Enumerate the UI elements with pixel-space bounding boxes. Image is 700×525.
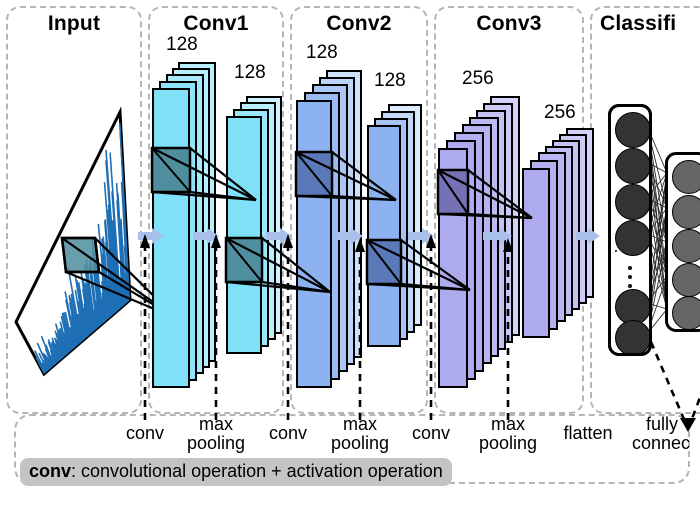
op-label-maxpool-3-line1: max [472, 415, 544, 434]
fc-node [672, 296, 700, 330]
flatten-node [615, 184, 651, 220]
flatten-node [615, 112, 651, 148]
cnn-architecture-diagram: Input Conv1 Conv2 Conv3 Classifi [0, 0, 700, 525]
fc-node [672, 229, 700, 263]
fc-node [672, 195, 700, 229]
conv1-b-patch [226, 238, 262, 282]
op-label-conv-2: conv [255, 424, 321, 443]
flatten-layer-column [608, 104, 652, 356]
op-label-conv-3: conv [398, 424, 464, 443]
op-label-maxpool-3-line2: pooling [472, 434, 544, 453]
flow-arrow-7 [576, 228, 600, 244]
op-label-fully-connected-line2: connec [632, 434, 700, 453]
flatten-node [615, 220, 651, 256]
flatten-node [615, 320, 651, 356]
fc-node [672, 263, 700, 297]
op-label-maxpool-1-line2: pooling [180, 434, 252, 453]
fully-connected-layer-column [665, 152, 700, 332]
legend-description: : convolutional operation + activation o… [71, 461, 443, 481]
op-label-fully-connected-line1: fully [646, 415, 700, 434]
conv2-a-patch [296, 152, 332, 196]
op-label-flatten: flatten [548, 424, 628, 443]
flatten-node [615, 250, 617, 252]
op-pointer-arrows [145, 240, 508, 420]
op-label-maxpool-2-line2: pooling [324, 434, 396, 453]
op-label-maxpool-2-line1: max [324, 415, 396, 434]
flow-arrow-1 [138, 228, 164, 244]
flatten-node [615, 148, 651, 184]
legend-conv-definition: conv: convolutional operation + activati… [20, 458, 452, 486]
fc-node [672, 160, 700, 194]
legend-term: conv [29, 461, 71, 481]
op-label-conv-1: conv [112, 424, 178, 443]
flatten-pointer [651, 342, 700, 424]
op-label-maxpool-1-line1: max [180, 415, 252, 434]
conv1-a-patch [152, 148, 190, 192]
conv2-b-patch [367, 240, 401, 284]
